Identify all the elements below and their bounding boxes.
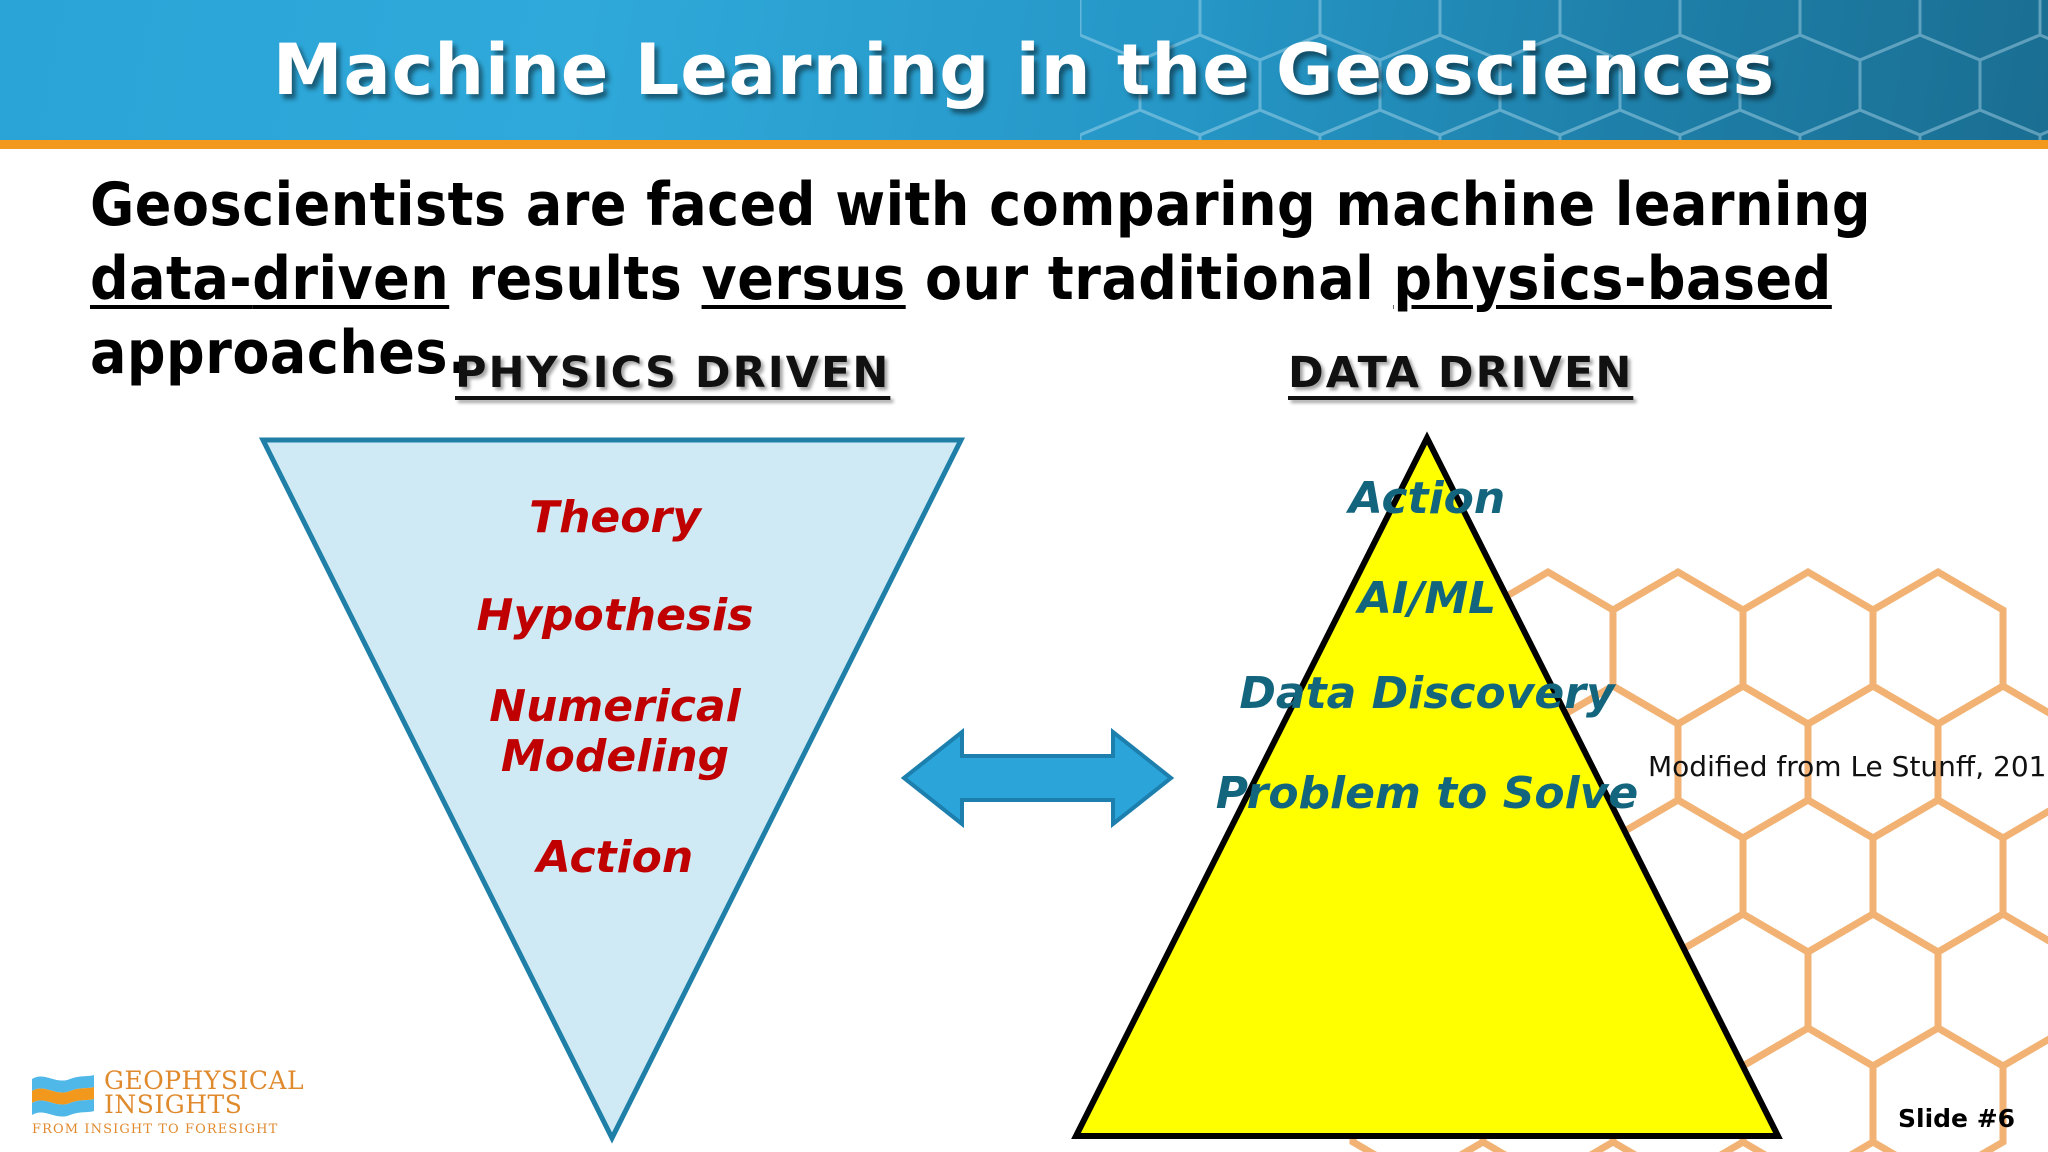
body-segment-3: our traditional xyxy=(906,244,1394,314)
body-paragraph: Geoscientists are faced with comparing m… xyxy=(90,168,1990,390)
slide-canvas: Machine Learning in the Geosciences Geos… xyxy=(0,0,2048,1152)
body-segment-1: Geoscientists are faced with comparing m… xyxy=(90,170,1871,240)
body-underline-versus: versus xyxy=(702,244,906,314)
slide-title: Machine Learning in the Geosciences xyxy=(0,0,2048,140)
heading-physics-driven: PHYSICS DRIVEN xyxy=(455,348,890,398)
heading-data-driven: DATA DRIVEN xyxy=(1288,348,1633,398)
body-underline-physics-based: physics-based xyxy=(1393,244,1831,314)
body-underline-driven: driven xyxy=(252,244,449,314)
title-banner: Machine Learning in the Geosciences xyxy=(0,0,2048,148)
body-segment-4: approaches. xyxy=(90,318,469,388)
body-segment-2: results xyxy=(449,244,701,314)
physics-driven-triangle: Theory Hypothesis Numerical Modeling Act… xyxy=(255,432,975,1147)
body-underline-data: data- xyxy=(90,244,252,314)
wave-logo-icon xyxy=(30,1070,96,1118)
logo-word-insights: INSIGHTS xyxy=(104,1090,242,1119)
logo-tagline: FROM INSIGHT TO FORESIGHT xyxy=(32,1122,278,1137)
company-logo: GEOPHYSICAL INSIGHTS FROM INSIGHT TO FOR… xyxy=(30,1068,280,1144)
physics-triangle-shape xyxy=(255,432,975,1147)
double-headed-arrow-icon xyxy=(900,726,1175,831)
banner-orange-rule xyxy=(0,140,2048,149)
slide-number: Slide #6 xyxy=(1898,1104,2015,1133)
attribution-text: Modified from Le Stunff, 2018 xyxy=(1648,750,2048,783)
